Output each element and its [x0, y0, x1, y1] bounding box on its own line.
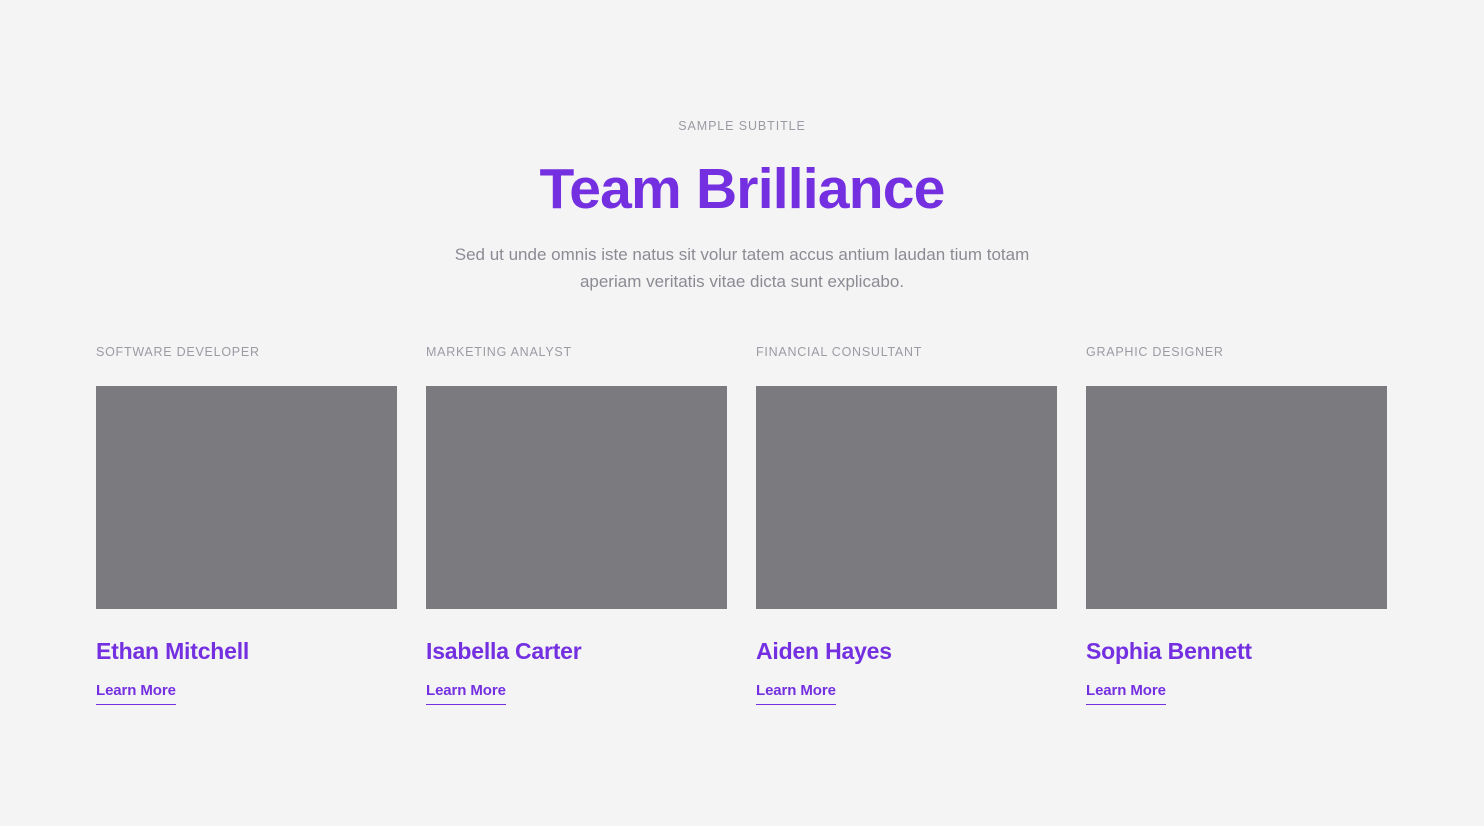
- member-role: FINANCIAL CONSULTANT: [756, 344, 1057, 360]
- member-name: Isabella Carter: [426, 637, 727, 665]
- member-photo: [756, 386, 1057, 609]
- member-name: Aiden Hayes: [756, 637, 1057, 665]
- section-description: Sed ut unde omnis iste natus sit volur t…: [442, 241, 1042, 295]
- team-section-page: SAMPLE SUBTITLE Team Brilliance Sed ut u…: [0, 0, 1484, 826]
- learn-more-link[interactable]: Learn More: [426, 681, 506, 705]
- member-photo: [96, 386, 397, 609]
- learn-more-link[interactable]: Learn More: [756, 681, 836, 705]
- section-header: SAMPLE SUBTITLE Team Brilliance Sed ut u…: [0, 0, 1484, 295]
- member-photo: [426, 386, 727, 609]
- section-eyebrow: SAMPLE SUBTITLE: [0, 118, 1484, 134]
- member-name: Ethan Mitchell: [96, 637, 397, 665]
- team-member-card: SOFTWARE DEVELOPER Ethan Mitchell Learn …: [96, 344, 397, 705]
- team-member-card: FINANCIAL CONSULTANT Aiden Hayes Learn M…: [756, 344, 1057, 705]
- member-name: Sophia Bennett: [1086, 637, 1387, 665]
- member-role: SOFTWARE DEVELOPER: [96, 344, 397, 360]
- member-role: GRAPHIC DESIGNER: [1086, 344, 1387, 360]
- team-member-card: GRAPHIC DESIGNER Sophia Bennett Learn Mo…: [1086, 344, 1387, 705]
- learn-more-link[interactable]: Learn More: [1086, 681, 1166, 705]
- team-member-card: MARKETING ANALYST Isabella Carter Learn …: [426, 344, 727, 705]
- member-photo: [1086, 386, 1387, 609]
- member-role: MARKETING ANALYST: [426, 344, 727, 360]
- team-members-grid: SOFTWARE DEVELOPER Ethan Mitchell Learn …: [96, 344, 1387, 705]
- page-title: Team Brilliance: [0, 158, 1484, 220]
- learn-more-link[interactable]: Learn More: [96, 681, 176, 705]
